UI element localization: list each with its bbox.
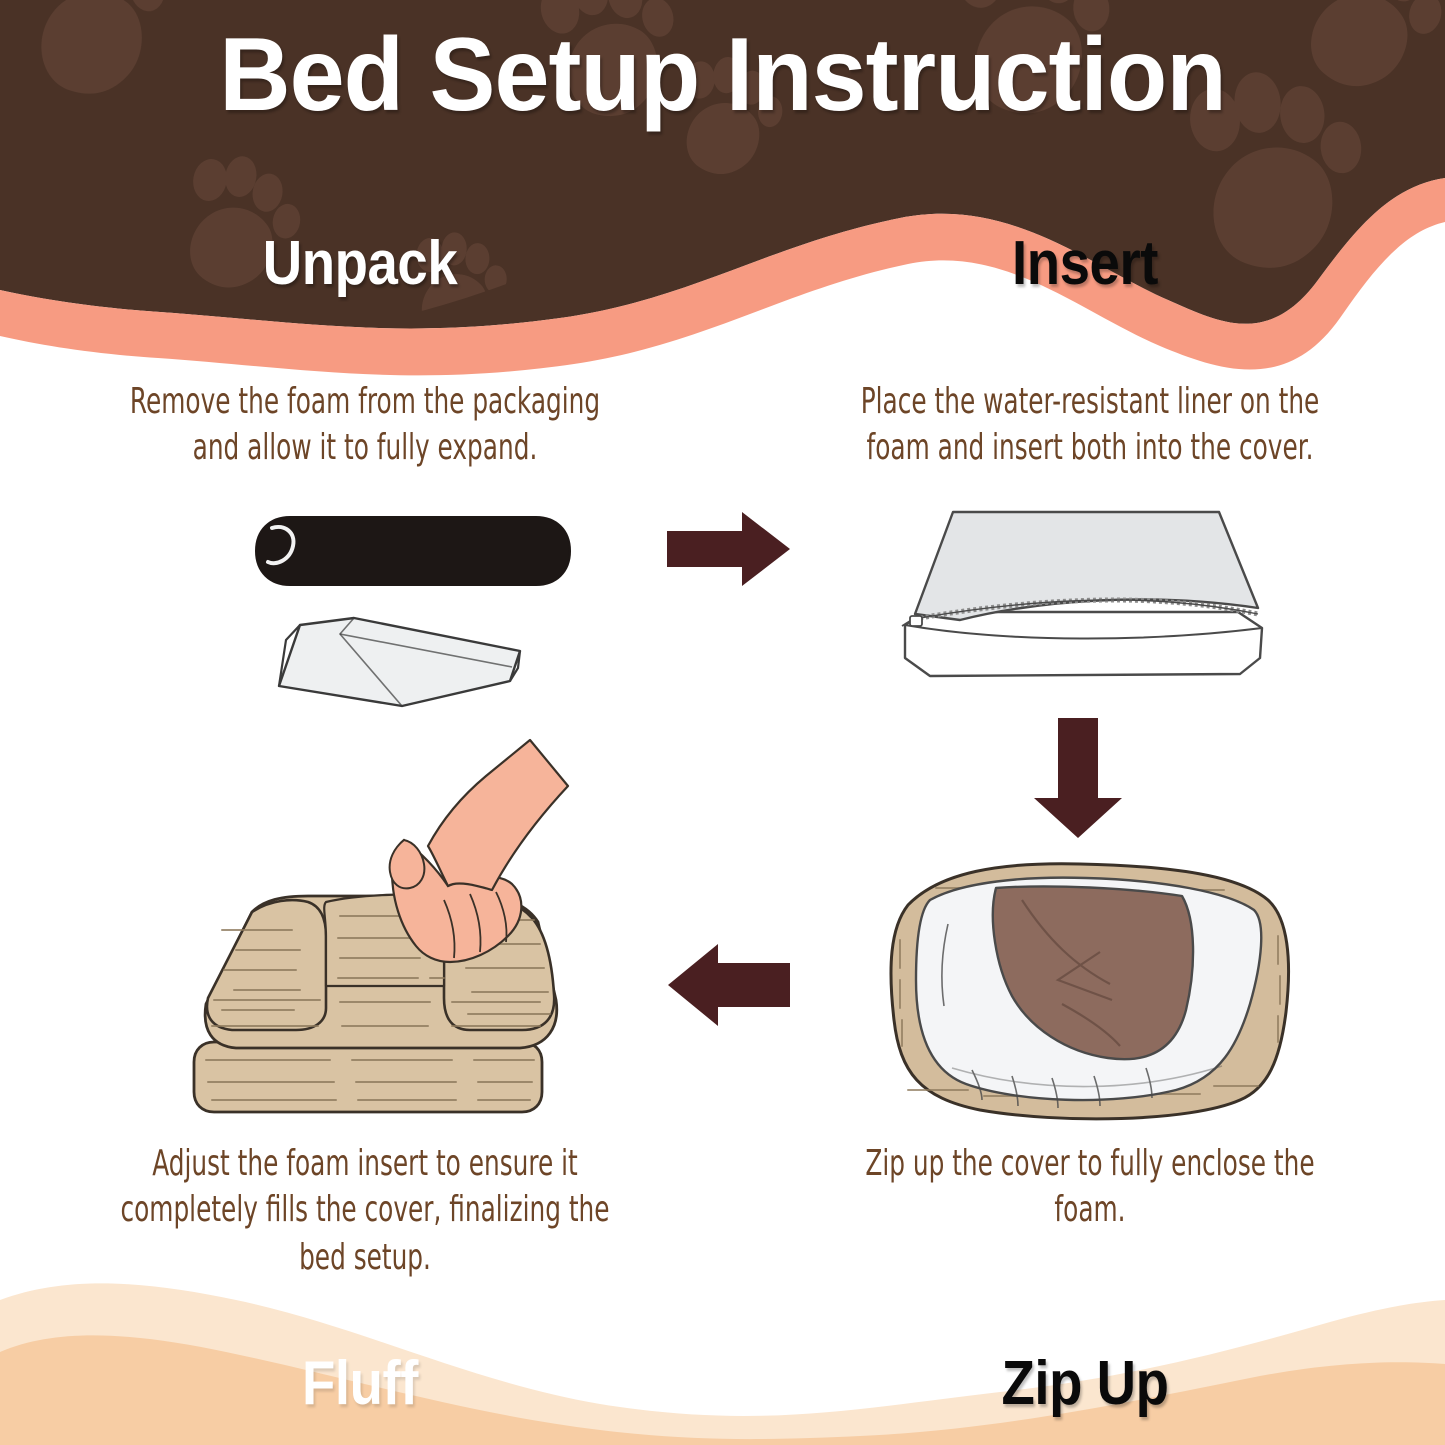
arrow-unpack-to-insert xyxy=(667,512,790,586)
illustrations-layer xyxy=(0,0,1445,1445)
bed-setup-instruction-poster: Bed Setup Instruction Unpack Insert Fluf… xyxy=(0,0,1445,1445)
rolled-foam-icon xyxy=(256,517,570,585)
foam-with-liner-illustration xyxy=(902,512,1262,676)
arrow-zipup-to-fluff xyxy=(668,944,790,1026)
rolled-foam-and-liner-illustration xyxy=(256,517,570,706)
folded-liner-icon xyxy=(279,618,520,706)
open-bed-cover-illustration xyxy=(891,864,1289,1119)
arrow-insert-to-zipup xyxy=(1034,718,1122,838)
hand-icon xyxy=(390,740,568,962)
zipper-pull-icon xyxy=(902,616,922,626)
hand-pressing-bed-illustration xyxy=(194,740,568,1112)
